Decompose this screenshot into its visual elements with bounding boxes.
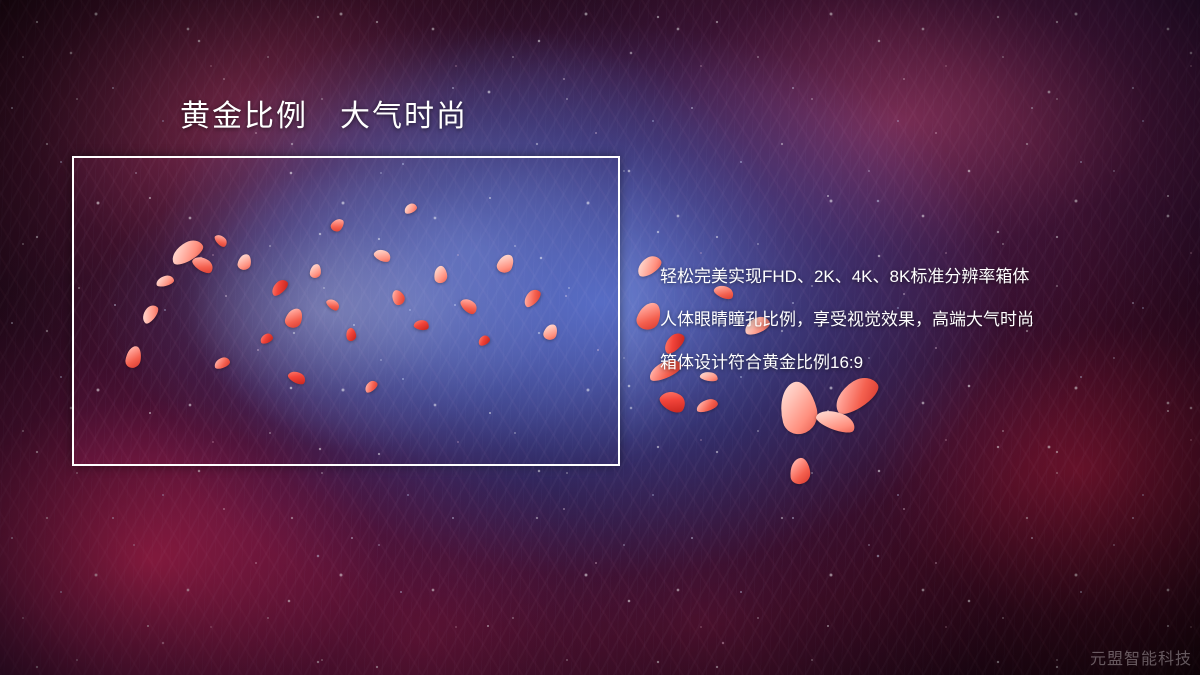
- slide-canvas: 黄金比例 大气时尚 轻松完美实现FHD、2K、4K、8K标准分辨率箱体 人体眼睛…: [0, 0, 1200, 675]
- description-line-1: 轻松完美实现FHD、2K、4K、8K标准分辨率箱体: [660, 255, 1160, 298]
- petal-icon: [657, 386, 689, 416]
- description-line-3: 箱体设计符合黄金比例16:9: [660, 341, 1160, 384]
- petal-icon: [695, 397, 719, 414]
- page-title: 黄金比例 大气时尚: [180, 100, 468, 133]
- description-line-2: 人体眼睛瞳孔比例，享受视觉效果，高端大气时尚: [660, 298, 1160, 341]
- description-text-block: 轻松完美实现FHD、2K、4K、8K标准分辨率箱体 人体眼睛瞳孔比例，享受视觉效…: [660, 255, 1160, 384]
- petal-icon: [774, 378, 822, 437]
- framed-photo: [72, 156, 620, 466]
- watermark: 元盟智能科技: [1090, 645, 1192, 669]
- petal-icon: [789, 457, 812, 485]
